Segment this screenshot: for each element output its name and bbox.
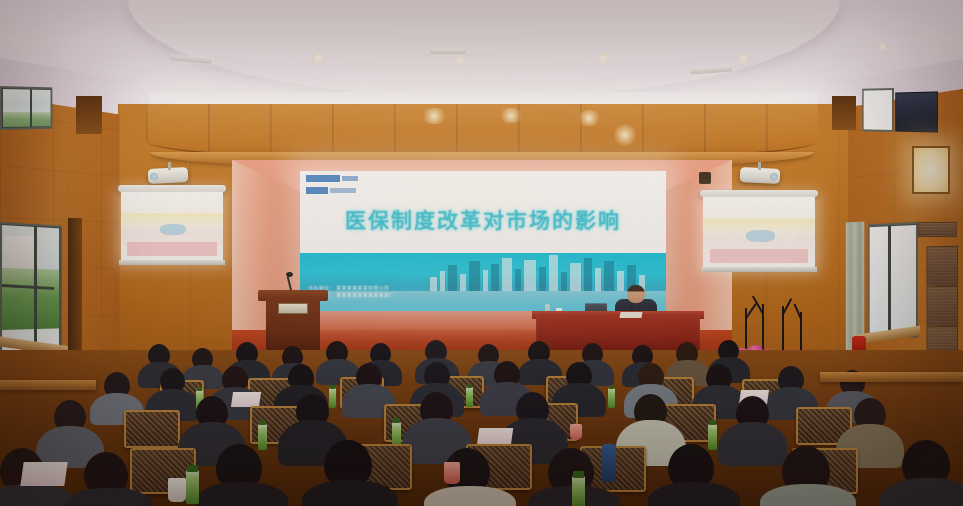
acoustic-panel (926, 286, 958, 327)
slide-footer-line: 协办单位： 某某某某某某某某某某厂 (308, 292, 456, 299)
wall-bracket-figure (699, 172, 711, 184)
bottle-cap (573, 471, 584, 478)
left-wall-recess (76, 96, 102, 134)
water-bottle[interactable] (466, 387, 473, 407)
ceiling-downlight (312, 52, 324, 64)
projector-lens (150, 173, 158, 180)
window-mullion (888, 226, 891, 334)
slide-title: 医保制度改革对市场的影响 (300, 205, 666, 235)
water-bottle[interactable] (258, 424, 267, 450)
bottle-cap (259, 420, 266, 425)
chair[interactable] (124, 410, 180, 448)
thermos[interactable] (602, 444, 616, 482)
window-mullion (34, 226, 37, 350)
head-table-document (619, 312, 642, 318)
ceiling-speaker-box (895, 91, 938, 132)
window-mullion (30, 89, 32, 127)
handout-paper[interactable] (20, 462, 67, 486)
ceiling-downlight (738, 53, 749, 64)
window-foliage (2, 268, 59, 330)
ceiling-downlight (597, 52, 609, 64)
soffit-light-glow (498, 108, 524, 123)
paper-cup[interactable] (570, 424, 582, 440)
soffit-light-glow (614, 122, 636, 148)
water-bottle[interactable] (186, 470, 199, 504)
main-projection-screen: 医保制度改革对市场的影响 主办单位： 某某某某某某有限公司 (300, 171, 666, 311)
slide-logo (306, 175, 360, 197)
ceiling-downlight (455, 55, 465, 65)
bottle-cap (393, 418, 400, 423)
side-screen-bottom-bar (119, 260, 225, 265)
slide-footer: 主办单位： 某某某某某某有限公司 协办单位： 某某某某某某某某某某厂 (308, 285, 456, 309)
water-bottle[interactable] (329, 388, 336, 408)
ceiling-troffer (430, 50, 466, 54)
bottle-cap (187, 465, 198, 472)
projector-mount-arm (168, 162, 171, 170)
audience-shoulders (718, 422, 788, 466)
handout-paper[interactable] (231, 392, 261, 407)
seated-speaker-head (627, 285, 645, 303)
window-foliage (3, 112, 51, 127)
soffit-light-glow (420, 108, 448, 124)
soffit-light-glow (576, 110, 602, 126)
lectern-name-plate (278, 303, 308, 314)
bottle-cap (709, 420, 716, 425)
audience-table (820, 372, 963, 382)
conference-hall-photo: 医保制度改革对市场的影响 主办单位： 某某某某某某有限公司 (0, 0, 963, 506)
acoustic-panel (926, 246, 958, 287)
bottle-cap (330, 385, 335, 389)
water-bottle[interactable] (572, 476, 585, 506)
side-projection-screen (703, 197, 815, 269)
bottle-cap (609, 385, 614, 389)
water-bottle[interactable] (708, 424, 717, 450)
bottle-cap (197, 387, 202, 391)
side-screen-case (700, 190, 818, 197)
left-window-reveal (68, 218, 82, 356)
right-wall-recess (832, 96, 856, 130)
side-screen-bottom-bar (701, 267, 817, 272)
paper-cup[interactable] (168, 478, 186, 502)
side-screen-case (118, 185, 226, 192)
ceiling-downlight (878, 42, 887, 51)
projector-lens (770, 173, 778, 180)
paper-cup[interactable] (444, 462, 460, 484)
right-window-glass (870, 225, 916, 335)
projector-mount-arm (758, 162, 761, 170)
slide-footer-line: 主办单位： 某某某某某某有限公司 (308, 285, 456, 292)
right-clerestory-window-glass (864, 90, 892, 130)
side-projection-screen (121, 192, 223, 262)
audience-table (0, 380, 96, 390)
bottle-cap (467, 384, 472, 388)
wall-sconce-light (912, 146, 950, 194)
acoustic-panel (918, 222, 957, 237)
podium-microphone-head (286, 272, 293, 277)
water-bottle[interactable] (608, 388, 615, 408)
